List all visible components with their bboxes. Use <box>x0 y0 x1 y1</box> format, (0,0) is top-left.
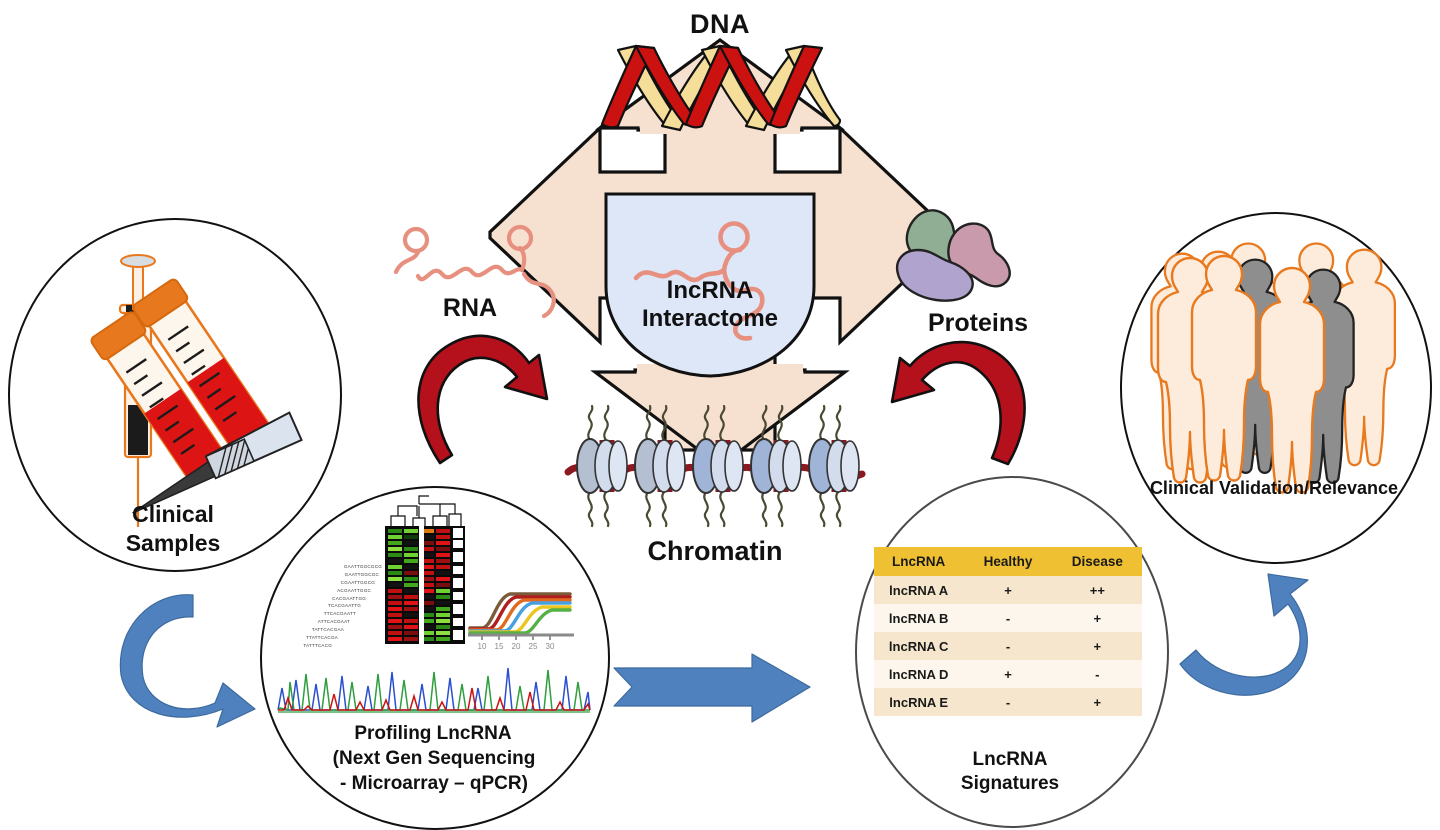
table-cell-lncrna: lncRNA B <box>874 604 963 632</box>
table-cell-disease: + <box>1053 604 1142 632</box>
profiling-label-line1: Profiling LncRNA <box>318 722 548 745</box>
heatmap-icon <box>383 492 473 647</box>
sequence-read: ATTCACGAAT <box>288 618 384 626</box>
chromatogram-icon <box>278 658 590 714</box>
center-label-line2: Interactome <box>600 304 820 333</box>
sequence-read: TTATTCACGA <box>288 634 384 642</box>
chromatin-icon <box>566 400 866 530</box>
people-group-icon <box>1148 238 1410 480</box>
blue-arrow-signatures-to-validation <box>1162 572 1337 717</box>
table-row: lncRNA B - + <box>874 604 1142 632</box>
table-cell-disease: + <box>1053 688 1142 716</box>
node-label-dna: DNA <box>640 8 800 41</box>
table-cell-lncrna: lncRNA C <box>874 632 963 660</box>
sequence-read: TATTCACGAA <box>288 626 384 634</box>
sequence-read: TCACGAATTG <box>288 602 384 610</box>
table-cell-lncrna: lncRNA D <box>874 660 963 688</box>
table-header-cell: Disease <box>1053 547 1142 576</box>
qpcr-tick-label: 25 <box>529 642 538 651</box>
clinical-samples-icons <box>62 255 312 535</box>
clinical-samples-label-line2: Samples <box>93 529 253 557</box>
sequence-read: CACGAATTGG <box>288 595 384 603</box>
table-row: lncRNA D + - <box>874 660 1142 688</box>
table-header-cell: LncRNA <box>874 547 963 576</box>
table-cell-healthy: + <box>963 576 1052 604</box>
node-label-chromatin: Chromatin <box>620 535 810 568</box>
table-cell-disease: ++ <box>1053 576 1142 604</box>
table-cell-lncrna: lncRNA E <box>874 688 963 716</box>
table-cell-healthy: + <box>963 660 1052 688</box>
table-row: lncRNA A + ++ <box>874 576 1142 604</box>
red-arrow-proteins-to-center <box>880 330 1040 470</box>
sequence-read: CGAATTGGCG <box>288 579 384 587</box>
table-row: lncRNA C - + <box>874 632 1142 660</box>
qpcr-tick-label: 30 <box>546 642 555 651</box>
signatures-label-line1: LncRNA <box>930 748 1090 771</box>
sequence-read: TATTTCACG <box>288 642 384 650</box>
figure-canvas: DNA lncRNA Interactome RNA <box>0 0 1440 829</box>
table-cell-healthy: - <box>963 604 1052 632</box>
table-cell-disease: - <box>1053 660 1142 688</box>
sequence-read: ACGAATTGGC <box>288 587 384 595</box>
qpcr-tick-label: 10 <box>478 642 487 651</box>
profiling-label-line2: (Next Gen Sequencing <box>308 747 560 770</box>
table-cell-lncrna: lncRNA A <box>874 576 963 604</box>
clinical-validation-label: Clinical Validation/Relevance <box>1134 478 1414 500</box>
blue-arrow-profiling-to-signatures <box>612 654 812 724</box>
table-row: lncRNA E - + <box>874 688 1142 716</box>
qpcr-curve-icon: 10 15 20 25 30 <box>466 572 578 650</box>
qpcr-tick-label: 20 <box>512 642 521 651</box>
table-header-cell: Healthy <box>963 547 1052 576</box>
table-cell-healthy: - <box>963 632 1052 660</box>
red-arrow-rna-to-center <box>405 325 565 470</box>
table-cell-healthy: - <box>963 688 1052 716</box>
sequence-read: GAATTGGCGCG <box>288 563 384 571</box>
clinical-samples-label-line1: Clinical <box>93 500 253 528</box>
signatures-label-line2: Signatures <box>930 772 1090 795</box>
table-cell-disease: + <box>1053 632 1142 660</box>
sequence-read: GAATTGGCGC <box>288 571 384 579</box>
sequence-read: TTCACGAATT <box>288 610 384 618</box>
protein-blobs-icon <box>880 200 1030 320</box>
table-header-row: LncRNA Healthy Disease <box>874 547 1142 576</box>
profiling-label-line3: - Microarray – qPCR) <box>308 772 560 795</box>
dna-helix-icon <box>600 38 840 138</box>
node-label-rna: RNA <box>410 293 530 324</box>
qpcr-tick-label: 15 <box>495 642 504 651</box>
sequence-list-icon: GAATTGGCGCG GAATTGGCGC CGAATTGGCG ACGAAT… <box>288 563 384 650</box>
center-label-line1: lncRNA <box>610 276 810 305</box>
signature-table: LncRNA Healthy Disease lncRNA A + ++ lnc… <box>874 547 1142 716</box>
